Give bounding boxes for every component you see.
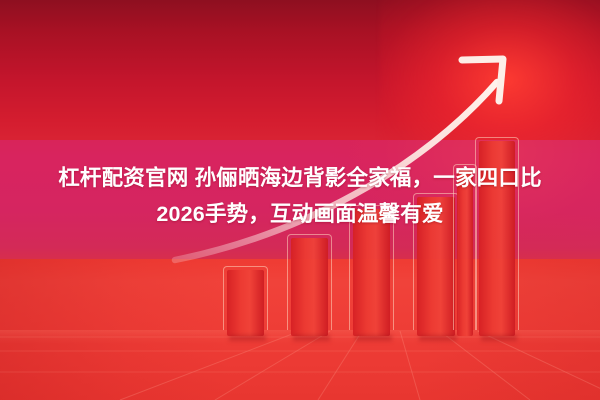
headline-line-2: 2026手势，互动画面温馨有爱 bbox=[0, 196, 600, 232]
headline-line-1: 杠杆配资官网 孙俪晒海边背影全家福，一家四口比 bbox=[0, 160, 600, 196]
banner-image: 杠杆配资官网 孙俪晒海边背影全家福，一家四口比 2026手势，互动画面温馨有爱 bbox=[0, 0, 600, 400]
page-title: 杠杆配资官网 孙俪晒海边背影全家福，一家四口比 2026手势，互动画面温馨有爱 bbox=[0, 160, 600, 232]
